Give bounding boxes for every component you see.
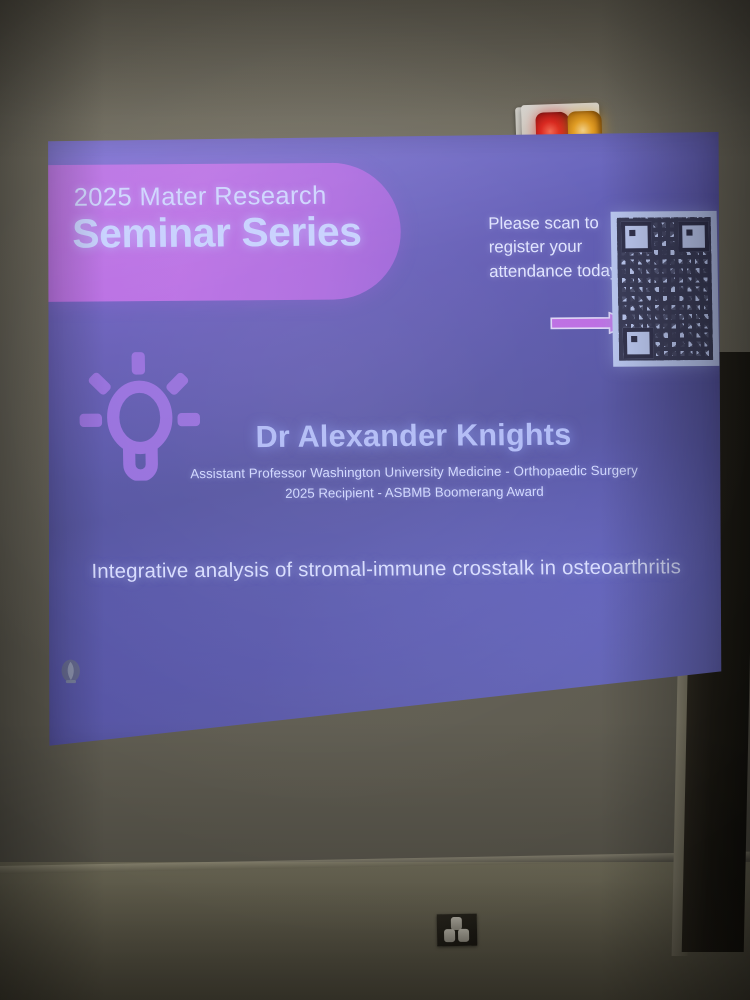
outlet-socket-right xyxy=(458,929,469,942)
seminar-series-banner: 2025 Mater Research Seminar Series xyxy=(43,162,402,301)
qr-finder-bottom-left xyxy=(623,328,654,359)
qr-finder-top-left xyxy=(621,222,652,253)
outlet-socket-left xyxy=(444,929,455,942)
lightbulb-idea-icon xyxy=(76,350,203,482)
wall-lower-surface xyxy=(0,862,750,1000)
speaker-name: Dr Alexander Knights xyxy=(37,417,731,457)
projection-room-scene: 2025 Mater Research Seminar Series Pleas… xyxy=(0,0,750,1000)
wall-power-outlet xyxy=(437,914,478,947)
slide-canvas: 2025 Mater Research Seminar Series Pleas… xyxy=(32,123,737,761)
speaker-award: 2025 Recipient - ASBMB Boomerang Award xyxy=(38,482,732,503)
qr-finder-top-right xyxy=(678,221,709,252)
qr-code[interactable] xyxy=(611,211,720,367)
banner-title-line2: Seminar Series xyxy=(72,210,362,258)
banner-title-line1: 2025 Mater Research xyxy=(73,181,326,213)
projected-slide[interactable]: 2025 Mater Research Seminar Series Pleas… xyxy=(44,132,724,752)
talk-title: Integrative analysis of stromal-immune c… xyxy=(39,556,733,585)
scan-instruction-text: Please scan to register your attendance … xyxy=(488,212,627,285)
mater-research-logo xyxy=(59,659,82,686)
